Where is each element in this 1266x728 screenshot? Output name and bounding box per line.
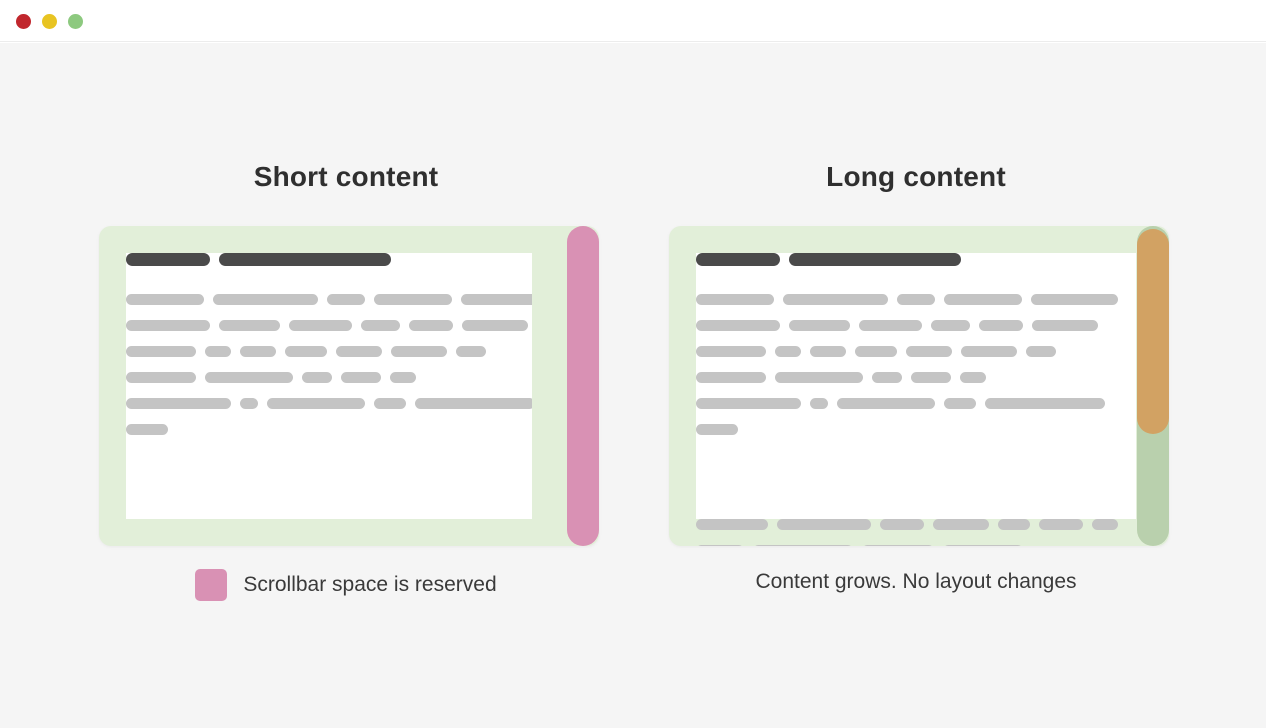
skeleton-line-bar — [415, 398, 532, 409]
skeleton-line-bar — [855, 346, 897, 357]
skeleton-line-bar — [240, 398, 258, 409]
skeleton-line-bar — [810, 346, 846, 357]
skeleton-line-bar — [285, 346, 327, 357]
skeleton-line-bar — [336, 346, 382, 357]
skeleton-line-bar — [933, 519, 989, 530]
skeleton-text-row — [696, 519, 1136, 530]
skeleton-line-bar — [872, 372, 902, 383]
skeleton-line-bar — [341, 372, 381, 383]
skeleton-line-bar — [862, 545, 934, 546]
skeleton-text-row — [126, 346, 532, 357]
scrollbar-track-short-content[interactable] — [567, 226, 599, 546]
skeleton-line-bar — [696, 519, 768, 530]
skeleton-line-bar — [789, 320, 850, 331]
skeleton-line-bar — [126, 346, 196, 357]
skeleton-line-bar — [810, 398, 828, 409]
skeleton-text-row — [696, 545, 1136, 546]
scroll-container-long-content — [669, 226, 1169, 546]
skeleton-line-bar — [911, 372, 951, 383]
skeleton-line-bar — [126, 424, 168, 435]
skeleton-line-bar — [390, 372, 416, 383]
skeleton-line-bar — [931, 320, 970, 331]
close-button[interactable] — [16, 14, 31, 29]
skeleton-line-bar — [880, 519, 924, 530]
skeleton-line-bar — [409, 320, 453, 331]
skeleton-line-bar — [1039, 519, 1083, 530]
skeleton-header-row — [696, 253, 1136, 266]
skeleton-line-bar — [944, 294, 1022, 305]
skeleton-content-long-content — [696, 253, 1136, 450]
skeleton-line-bar — [943, 545, 1023, 546]
skeleton-line-bar — [391, 346, 447, 357]
skeleton-line-bar — [696, 545, 744, 546]
skeleton-text-row — [696, 346, 1136, 357]
skeleton-line-bar — [361, 320, 400, 331]
skeleton-line-bar — [126, 294, 204, 305]
skeleton-line-bar — [960, 372, 986, 383]
skeleton-title-bar — [126, 253, 210, 266]
skeleton-line-bar — [696, 424, 738, 435]
skeleton-text-row — [696, 424, 1136, 435]
skeleton-line-bar — [961, 346, 1017, 357]
skeleton-line-bar — [1032, 320, 1098, 331]
scrollbar-gutter-short-content[interactable] — [567, 226, 599, 546]
skeleton-text-row — [126, 424, 532, 435]
skeleton-text-row — [696, 294, 1136, 305]
scroll-viewport-long-content[interactable] — [696, 253, 1136, 519]
skeleton-line-bar — [302, 372, 332, 383]
skeleton-text-row — [696, 320, 1136, 331]
skeleton-line-bar — [205, 372, 293, 383]
panel-title-long-content: Long content — [631, 160, 1201, 194]
skeleton-line-bar — [777, 519, 871, 530]
scrollbar-thumb-long-content[interactable] — [1137, 229, 1169, 434]
skeleton-text-row — [126, 294, 532, 305]
skeleton-line-bar — [1026, 346, 1056, 357]
skeleton-line-bar — [213, 294, 318, 305]
skeleton-line-bar — [906, 346, 952, 357]
skeleton-line-bar — [696, 346, 766, 357]
skeleton-line-bar — [374, 294, 452, 305]
skeleton-line-bar — [775, 372, 863, 383]
skeleton-line-bar — [126, 398, 231, 409]
skeleton-line-bar — [327, 294, 365, 305]
skeleton-line-bar — [753, 545, 853, 546]
skeleton-line-bar — [696, 294, 774, 305]
skeleton-header-row — [126, 253, 532, 266]
minimize-button[interactable] — [42, 14, 57, 29]
skeleton-line-bar — [897, 294, 935, 305]
skeleton-line-bar — [289, 320, 352, 331]
skeleton-line-bar — [837, 398, 935, 409]
skeleton-text-row — [126, 320, 532, 331]
skeleton-text-row — [126, 398, 532, 409]
skeleton-content-short-content — [126, 253, 532, 450]
skeleton-text-row — [696, 398, 1136, 409]
skeleton-line-bar — [205, 346, 231, 357]
skeleton-line-bar — [267, 398, 365, 409]
overflow-content-long-content — [696, 519, 1136, 546]
caption-text-short-content: Scrollbar space is reserved — [243, 572, 496, 598]
skeleton-text-row — [126, 372, 532, 383]
legend-color-swatch — [195, 569, 227, 601]
scrollbar-gutter-long-content[interactable] — [1137, 226, 1169, 546]
panel-title-short-content: Short content — [61, 160, 631, 194]
skeleton-line-bar — [775, 346, 801, 357]
skeleton-text-row — [696, 372, 1136, 383]
scroll-container-short-content — [99, 226, 599, 546]
skeleton-title-bar — [696, 253, 780, 266]
skeleton-line-bar — [1031, 294, 1118, 305]
skeleton-line-bar — [219, 320, 280, 331]
skeleton-line-bar — [944, 398, 976, 409]
skeleton-line-bar — [126, 372, 196, 383]
skeleton-line-bar — [859, 320, 922, 331]
panel-caption-long-content: Content grows. No layout changes — [631, 569, 1201, 595]
traffic-light-buttons — [16, 14, 83, 29]
skeleton-line-bar — [696, 372, 766, 383]
window-title-bar — [0, 0, 1266, 42]
skeleton-line-bar — [696, 398, 801, 409]
skeleton-line-bar — [1092, 519, 1118, 530]
skeleton-line-bar — [979, 320, 1023, 331]
skeleton-line-bar — [461, 294, 532, 305]
skeleton-title-bar — [789, 253, 961, 266]
skeleton-line-bar — [456, 346, 486, 357]
skeleton-line-bar — [126, 320, 210, 331]
skeleton-line-bar — [374, 398, 406, 409]
caption-text-long-content: Content grows. No layout changes — [755, 569, 1076, 595]
maximize-button[interactable] — [68, 14, 83, 29]
skeleton-line-bar — [998, 519, 1030, 530]
skeleton-line-bar — [985, 398, 1105, 409]
skeleton-line-bar — [696, 320, 780, 331]
skeleton-title-bar — [219, 253, 391, 266]
skeleton-line-bar — [240, 346, 276, 357]
scroll-viewport-short-content[interactable] — [126, 253, 532, 519]
page-canvas: Short contentScrollbar space is reserved… — [0, 43, 1266, 728]
skeleton-line-bar — [783, 294, 888, 305]
skeleton-line-bar — [462, 320, 528, 331]
panel-caption-short-content: Scrollbar space is reserved — [61, 569, 631, 601]
